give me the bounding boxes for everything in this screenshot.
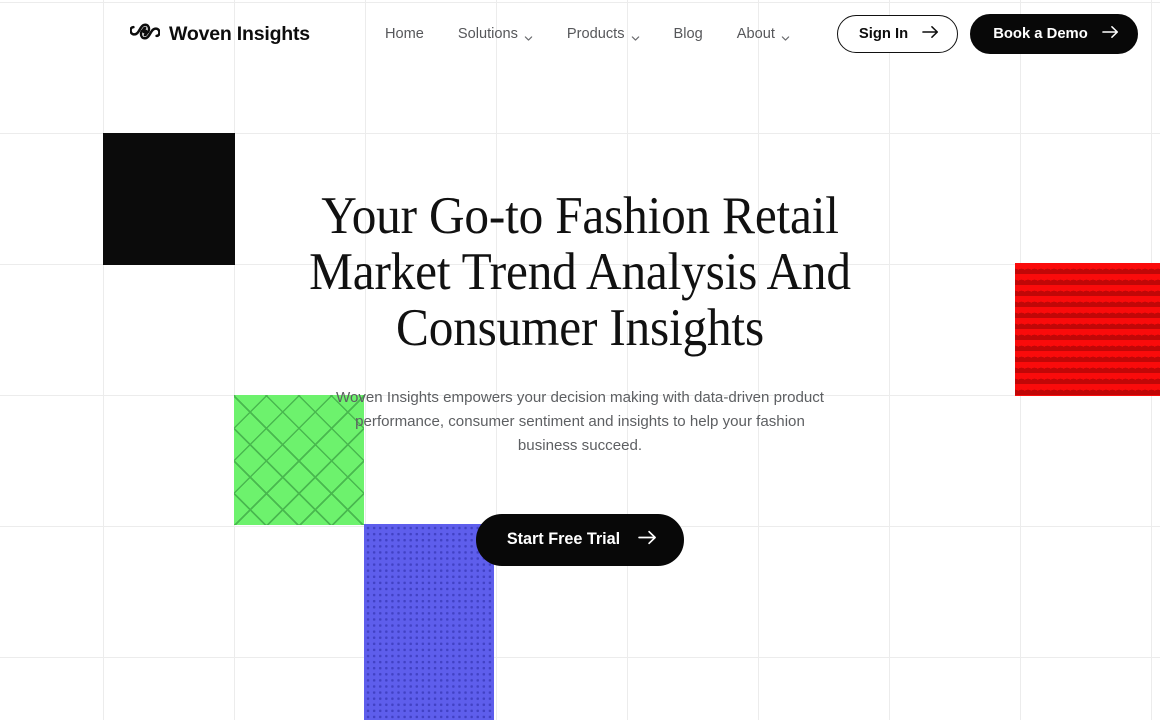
chevron-down-icon <box>631 31 640 40</box>
cta-label: Start Free Trial <box>507 530 620 549</box>
nav-item-products[interactable]: Products <box>550 20 657 48</box>
book-a-demo-button[interactable]: Book a Demo <box>970 14 1138 54</box>
nav-item-blog[interactable]: Blog <box>657 20 720 48</box>
brand-name: Woven Insights <box>169 23 310 46</box>
woven-infinity-loops-icon <box>130 22 160 46</box>
nav-item-about[interactable]: About <box>720 20 807 48</box>
sign-in-label: Sign In <box>859 26 908 42</box>
start-free-trial-button[interactable]: Start Free Trial <box>476 514 684 566</box>
sign-in-button[interactable]: Sign In <box>837 15 958 53</box>
nav-item-home[interactable]: Home <box>368 20 441 48</box>
page-title: Your Go-to Fashion Retail Market Trend A… <box>282 188 877 357</box>
brand-logo-link[interactable]: Woven Insights <box>130 22 310 46</box>
nav-item-label: Products <box>567 26 625 42</box>
arrow-right-icon <box>1102 25 1119 43</box>
arrow-right-icon <box>638 530 657 550</box>
header-actions: Sign In Book a Demo <box>837 14 1138 54</box>
nav-item-label: Solutions <box>458 26 518 42</box>
arrow-right-icon <box>922 25 939 43</box>
hero-cta-wrapper: Start Free Trial <box>0 514 1160 566</box>
hero-section: Your Go-to Fashion Retail Market Trend A… <box>0 68 1160 566</box>
nav-item-label: Blog <box>674 26 703 42</box>
nav-item-label: About <box>737 26 775 42</box>
hero-subtitle: Woven Insights empowers your decision ma… <box>334 386 826 459</box>
nav-item-label: Home <box>385 26 424 42</box>
site-header: Woven Insights Home Solutions Products B… <box>0 0 1160 68</box>
chevron-down-icon <box>524 31 533 40</box>
chevron-down-icon <box>781 31 790 40</box>
nav-item-solutions[interactable]: Solutions <box>441 20 550 48</box>
main-navigation: Home Solutions Products Blog About <box>368 20 807 48</box>
book-demo-label: Book a Demo <box>993 26 1088 42</box>
